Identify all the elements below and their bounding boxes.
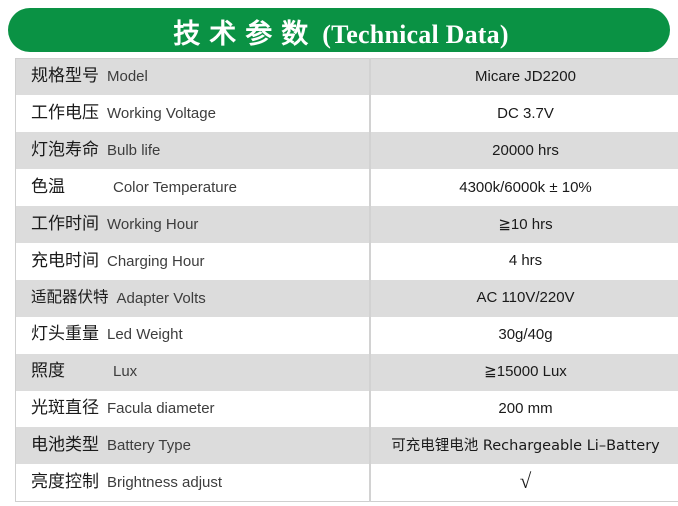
spec-label-english: Bulb life <box>107 143 160 158</box>
spec-label-cell: 适配器伏特Adapter Volts <box>16 280 371 317</box>
spec-label-english: Battery Type <box>107 438 191 453</box>
spec-value-cell: 30g/40g <box>370 317 678 354</box>
spec-label-chinese: 工作电压 <box>31 105 99 122</box>
spec-label-chinese: 光斑直径 <box>31 400 99 417</box>
table-row: 光斑直径Facula diameter 200 mm <box>16 391 678 428</box>
spec-value: 200 mm <box>498 401 552 416</box>
spec-value-cell: 可充电锂电池 Rechargeable Li–Battery <box>370 427 678 464</box>
spec-value-cell: DC 3.7V <box>370 95 678 132</box>
spec-label-english: Lux <box>113 364 137 379</box>
spec-label-english: Facula diameter <box>107 401 215 416</box>
spec-label-chinese: 工作时间 <box>31 216 99 233</box>
spec-label-cell: 工作电压Working Voltage <box>16 95 371 132</box>
spec-label-cell: 照度Lux <box>16 354 371 391</box>
spec-label-english: Working Hour <box>107 217 198 232</box>
spec-label-chinese: 色温 <box>31 179 105 196</box>
spec-value: 4 hrs <box>509 253 542 268</box>
spec-label-chinese: 照度 <box>31 363 105 380</box>
spec-label-cell: 灯头重量Led Weight <box>16 317 371 354</box>
spec-value-cell: AC 110V/220V <box>370 280 678 317</box>
spec-label-english: Working Voltage <box>107 106 216 121</box>
spec-label-chinese: 灯泡寿命 <box>31 142 99 159</box>
table-row: 电池类型Battery Type 可充电锂电池 Rechargeable Li–… <box>16 427 678 464</box>
spec-label-chinese: 亮度控制 <box>31 474 99 491</box>
technical-specs-table-body: 规格型号Model Micare JD2200 工作电压Working Volt… <box>16 59 678 502</box>
spec-value-cell: Micare JD2200 <box>370 59 678 96</box>
spec-value-cell: ≧10 hrs <box>370 206 678 243</box>
spec-value: Micare JD2200 <box>475 69 576 84</box>
spec-label-cell: 亮度控制Brightness adjust <box>16 464 371 501</box>
spec-value-cell: 4 hrs <box>370 243 678 280</box>
header-title: 技术参数 (Technical Data) <box>169 12 508 51</box>
table-row: 工作电压Working Voltage DC 3.7V <box>16 95 678 132</box>
technical-data-header-banner: 技术参数 (Technical Data) <box>8 8 670 52</box>
spec-value: 可充电锂电池 Rechargeable Li–Battery <box>391 439 660 454</box>
spec-label-cell: 色温Color Temperature <box>16 169 371 206</box>
spec-value: 20000 hrs <box>492 143 559 158</box>
spec-label-cell: 电池类型Battery Type <box>16 427 371 464</box>
spec-value-cell: √ <box>370 464 678 501</box>
technical-data-page: 技术参数 (Technical Data) 规格型号Model Micare J… <box>0 0 678 506</box>
spec-value: DC 3.7V <box>497 106 554 121</box>
table-row: 照度Lux ≧15000 Lux <box>16 354 678 391</box>
table-row: 亮度控制Brightness adjust √ <box>16 464 678 501</box>
spec-value-cell: 200 mm <box>370 391 678 428</box>
table-row: 灯头重量Led Weight 30g/40g <box>16 317 678 354</box>
spec-value-cell: ≧15000 Lux <box>370 354 678 391</box>
spec-label-english: Brightness adjust <box>107 475 222 490</box>
spec-label-cell: 光斑直径Facula diameter <box>16 391 371 428</box>
header-title-english: (Technical Data) <box>322 20 508 50</box>
spec-label-cell: 灯泡寿命Bulb life <box>16 132 371 169</box>
spec-label-chinese: 灯头重量 <box>31 326 99 343</box>
spec-value: ≧10 hrs <box>498 217 552 232</box>
spec-label-cell: 充电时间Charging Hour <box>16 243 371 280</box>
table-row: 工作时间Working Hour ≧10 hrs <box>16 206 678 243</box>
spec-label-cell: 规格型号Model <box>16 59 371 96</box>
spec-label-cell: 工作时间Working Hour <box>16 206 371 243</box>
table-row: 充电时间Charging Hour 4 hrs <box>16 243 678 280</box>
spec-value-cell: 20000 hrs <box>370 132 678 169</box>
header-title-chinese: 技术参数 <box>169 12 317 51</box>
spec-label-chinese: 适配器伏特 <box>31 290 109 306</box>
spec-label-english: Adapter Volts <box>117 291 206 306</box>
spec-label-chinese: 规格型号 <box>31 68 99 85</box>
technical-specs-table: 规格型号Model Micare JD2200 工作电压Working Volt… <box>15 58 678 502</box>
spec-value: ≧15000 Lux <box>484 364 567 379</box>
spec-value-checkmark-icon: √ <box>520 471 532 492</box>
spec-value: AC 110V/220V <box>476 290 574 305</box>
spec-label-english: Led Weight <box>107 327 183 342</box>
table-row: 规格型号Model Micare JD2200 <box>16 59 678 96</box>
spec-label-english: Charging Hour <box>107 254 205 269</box>
spec-label-english: Model <box>107 69 148 84</box>
spec-value-cell: 4300k/6000k ± 10% <box>370 169 678 206</box>
table-row: 色温Color Temperature 4300k/6000k ± 10% <box>16 169 678 206</box>
table-row: 适配器伏特Adapter Volts AC 110V/220V <box>16 280 678 317</box>
spec-value: 4300k/6000k ± 10% <box>459 180 592 195</box>
spec-label-english: Color Temperature <box>113 180 237 195</box>
spec-label-chinese: 电池类型 <box>31 437 99 454</box>
table-row: 灯泡寿命Bulb life 20000 hrs <box>16 132 678 169</box>
spec-label-chinese: 充电时间 <box>31 253 99 270</box>
spec-value: 30g/40g <box>498 327 552 342</box>
